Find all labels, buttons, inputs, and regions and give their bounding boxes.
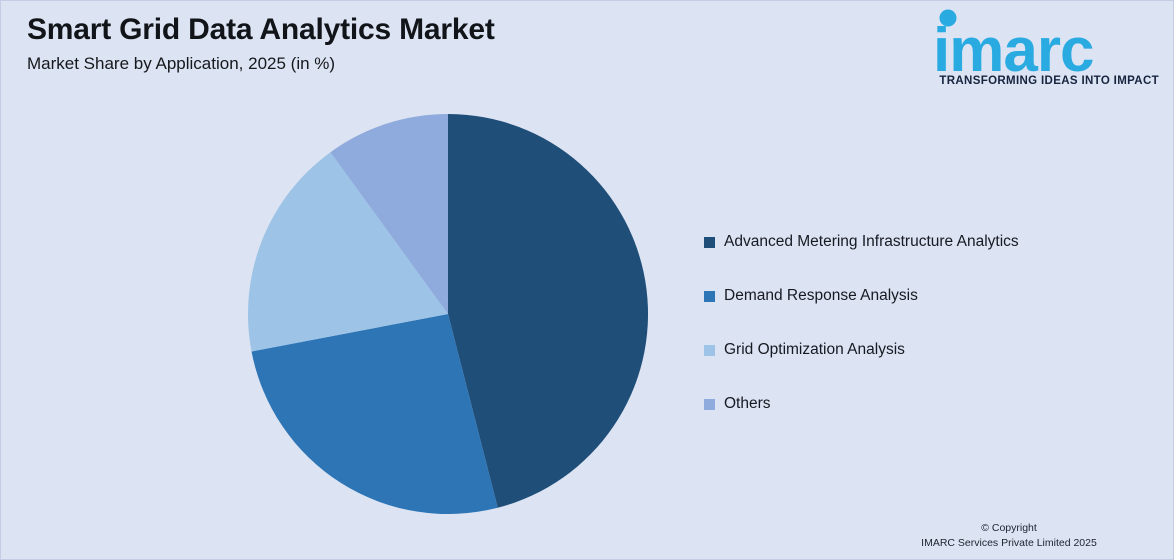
copyright-entity: IMARC Services Private Limited 2025 bbox=[859, 536, 1159, 551]
legend-item[interactable]: Grid Optimization Analysis bbox=[704, 323, 1144, 377]
legend-item[interactable]: Advanced Metering Infrastructure Analyti… bbox=[704, 215, 1144, 269]
legend-swatch-icon bbox=[704, 399, 715, 410]
legend-swatch-icon bbox=[704, 237, 715, 248]
infographic-canvas: Smart Grid Data Analytics Market Market … bbox=[0, 0, 1174, 560]
legend-label: Others bbox=[724, 395, 771, 413]
pie-chart bbox=[248, 114, 648, 514]
legend-item[interactable]: Demand Response Analysis bbox=[704, 269, 1144, 323]
legend-label: Advanced Metering Infrastructure Analyti… bbox=[724, 233, 1019, 251]
copyright-footer: © Copyright IMARC Services Private Limit… bbox=[859, 521, 1159, 551]
legend-label: Grid Optimization Analysis bbox=[724, 341, 905, 359]
imarc-wordmark-icon: imarc bbox=[929, 7, 1161, 79]
imarc-logo: imarc TRANSFORMING IDEAS INTO IMPACT bbox=[921, 7, 1161, 107]
pie-slice-group bbox=[248, 114, 648, 514]
chart-legend: Advanced Metering Infrastructure Analyti… bbox=[704, 215, 1144, 431]
logo-text: imarc bbox=[933, 16, 1093, 79]
page-title: Smart Grid Data Analytics Market bbox=[27, 11, 667, 49]
legend-swatch-icon bbox=[704, 345, 715, 356]
legend-label: Demand Response Analysis bbox=[724, 287, 918, 305]
legend-item[interactable]: Others bbox=[704, 377, 1144, 431]
pie-chart-svg bbox=[248, 114, 648, 514]
copyright-line: © Copyright bbox=[859, 521, 1159, 536]
legend-swatch-icon bbox=[704, 291, 715, 302]
page-subtitle: Market Share by Application, 2025 (in %) bbox=[27, 52, 667, 76]
header-block: Smart Grid Data Analytics Market Market … bbox=[27, 11, 667, 76]
